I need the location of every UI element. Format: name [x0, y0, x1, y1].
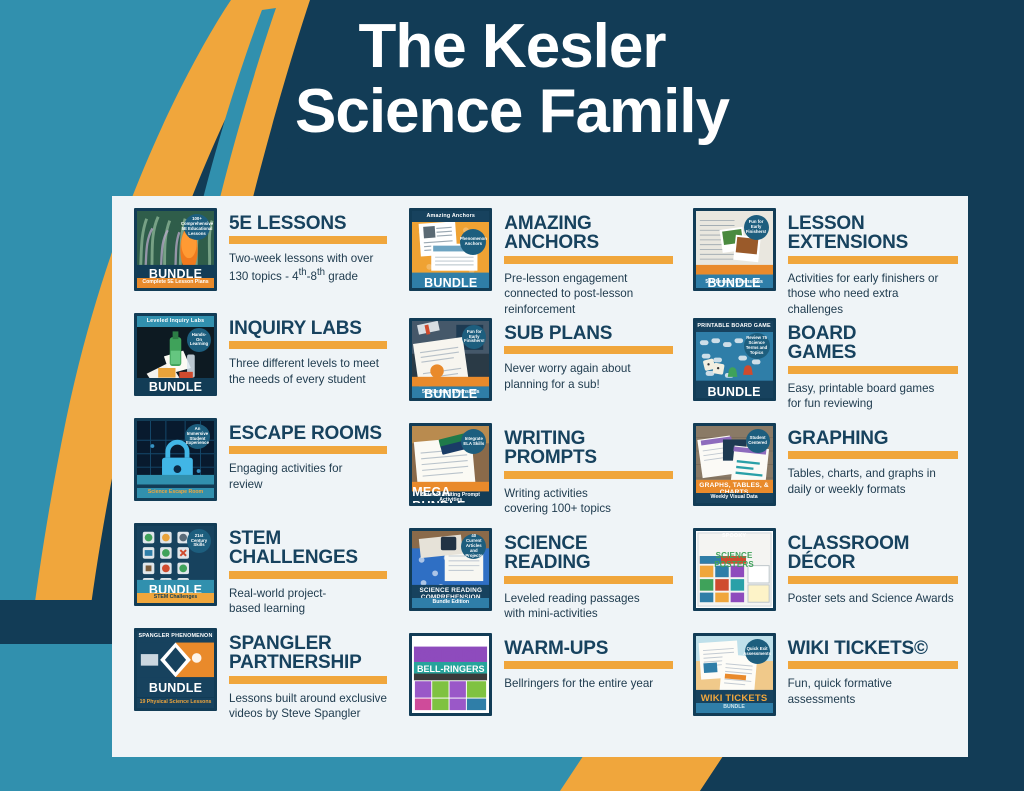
product-thumbnail-lab[interactable]: Leveled Inquiry LabsBUNDLEHands-On Learn… [134, 313, 217, 396]
thumbnail-feature-badge: 40 Current Articles and Projects [461, 534, 486, 559]
product-description: Leveled reading passageswith mini-activi… [504, 591, 672, 622]
product-thumbnail-bellringers[interactable]: MIDDLE & HIGHSCIENCEBELL-RINGERS [409, 633, 492, 716]
product-card-text: WRITING PROMPTSWriting activitiescoverin… [492, 423, 672, 517]
product-card-text: BOARD GAMESEasy, printable board gamesfo… [776, 318, 958, 412]
product-description: Easy, printable board gamesfor fun revie… [788, 381, 958, 412]
product-title: ESCAPE ROOMS [229, 424, 387, 443]
thumbnail-feature-badge: Fun for Early Finishers! [744, 215, 769, 240]
product-card[interactable]: BUNDLEScience Escape RoomAn Immersive St… [134, 418, 387, 523]
title-line-2: Science Family [0, 79, 1024, 144]
thumbnail-top-label: Amazing Anchors [412, 211, 489, 222]
product-card[interactable]: BUNDLESTEM Challenges21st Century Skills… [134, 523, 387, 628]
product-thumbnail-spangler[interactable]: SPANGLER PHENOMENONBUNDLE19 Physical Sci… [134, 628, 217, 711]
product-title: BOARD GAMES [788, 324, 958, 363]
thumbnail-bundle-badge: SCIENCE [412, 647, 489, 663]
thumbnail-sub-label: Weekly Visual Data [696, 493, 773, 503]
product-title: STEM CHALLENGES [229, 529, 387, 568]
product-card[interactable]: SPOOKYSCIENCE POSTERSCLASSROOM DÉCORPost… [693, 528, 958, 633]
product-thumbnail-writing[interactable]: MEGA BUNDLEScience Writing Prompt Activi… [409, 423, 492, 506]
product-card[interactable]: MEGA BUNDLEScience Writing Prompt Activi… [409, 423, 672, 528]
thumbnail-sub-label: 50+ Lesson Extensions [696, 278, 773, 288]
thumbnail-sub-label: STEM Challenges [137, 593, 214, 603]
thumbnail-bundle-badge: SCIENCE POSTERS [696, 557, 773, 565]
product-thumbnail-extensions[interactable]: BUNDLE50+ Lesson ExtensionsFun for Early… [693, 208, 776, 291]
accent-rule [229, 571, 387, 579]
product-card-text: STEM CHALLENGESReal-world project-based … [217, 523, 387, 617]
product-card-text: INQUIRY LABSThree different levels to me… [217, 313, 387, 387]
accent-rule [229, 446, 387, 454]
product-thumbnail-decor[interactable]: SPOOKYSCIENCE POSTERS [693, 528, 776, 611]
accent-rule [504, 471, 672, 479]
product-description: Activities for early finishers orthose w… [788, 271, 958, 317]
thumbnail-top-label: MIDDLE & HIGH [412, 636, 489, 647]
accent-rule [504, 576, 672, 584]
thumbnail-top-label: PRINTABLE BOARD GAME [696, 321, 773, 332]
thumbnail-bundle-badge: BUNDLE [696, 383, 773, 401]
thumbnail-top-label: Leveled Inquiry Labs [137, 316, 214, 327]
product-card[interactable]: GRAPHS, TABLES, & CHARTSWeekly Visual Da… [693, 423, 958, 528]
accent-rule [788, 256, 958, 264]
product-column-3: BUNDLE50+ Lesson ExtensionsFun for Early… [683, 196, 968, 757]
product-card-text: WIKI TICKETS©Fun, quick formativeassessm… [776, 633, 958, 707]
product-card[interactable]: Amazing AnchorsBUNDLEPhenomenon AnchorsA… [409, 208, 672, 318]
product-card-text: CLASSROOM DÉCORPoster sets and Science A… [776, 528, 958, 606]
product-card[interactable]: PRINTABLE BOARD GAMEBUNDLEReview 75 Scie… [693, 318, 958, 423]
product-description: Three different levels to meetthe needs … [229, 356, 387, 387]
accent-rule [504, 256, 672, 264]
product-thumbnail-subplans[interactable]: BUNDLE50+ Lesson ExtensionsFun for Early… [409, 318, 492, 401]
product-title: GRAPHING [788, 429, 958, 448]
product-title: SCIENCE READING [504, 534, 672, 573]
thumbnail-feature-badge: Student Centered [746, 429, 770, 453]
product-thumbnail-wiki[interactable]: WIKI TICKETSBUNDLEQuick Exit Assessments [693, 633, 776, 716]
product-title: INQUIRY LABS [229, 319, 387, 338]
product-description: Writing activitiescovering 100+ topics [504, 486, 672, 517]
poster-canvas: The Kesler Science Family BUNDLEComplete… [0, 0, 1024, 791]
product-card[interactable]: MIDDLE & HIGHSCIENCEBELL-RINGERSWARM-UPS… [409, 633, 672, 738]
thumbnail-feature-badge: 21st Century Skills [187, 529, 211, 553]
thumbnail-feature-badge: 100+ Comprehensive 5E Educational Lesson… [184, 214, 210, 240]
product-card-text: 5E LESSONSTwo-week lessons with over130 … [217, 208, 387, 284]
product-grid-panel: BUNDLEComplete 5E Lesson Plans100+ Compr… [112, 196, 968, 757]
accent-rule [788, 366, 958, 374]
product-title: WARM-UPS [504, 639, 672, 658]
product-title: AMAZING ANCHORS [504, 214, 672, 253]
product-card[interactable]: BUNDLEComplete 5E Lesson Plans100+ Compr… [134, 208, 387, 313]
product-card[interactable]: Leveled Inquiry LabsBUNDLEHands-On Learn… [134, 313, 387, 418]
product-title: SPANGLER PARTNERSHIP [229, 634, 387, 673]
product-card-text: GRAPHINGTables, charts, and graphs indai… [776, 423, 958, 497]
thumbnail-feature-badge: Hands-On Learning [187, 328, 211, 352]
product-card-text: LESSON EXTENSIONSActivities for early fi… [776, 208, 958, 317]
thumbnail-bundle-badge: BUNDLE [137, 378, 214, 396]
product-description: Fun, quick formativeassessments [788, 676, 958, 707]
product-thumbnail-anemone[interactable]: BUNDLEComplete 5E Lesson Plans100+ Compr… [134, 208, 217, 291]
thumbnail-feature-badge: An Immersive Student Experience [185, 424, 210, 449]
accent-rule [788, 576, 958, 584]
product-column-1: BUNDLEComplete 5E Lesson Plans100+ Compr… [112, 196, 397, 757]
product-card-text: SCIENCE READINGLeveled reading passagesw… [492, 528, 672, 622]
accent-rule [229, 236, 387, 244]
thumbnail-sub-label: Science Writing Prompt Activities [412, 493, 489, 503]
product-description: Tables, charts, and graphs indaily or we… [788, 466, 958, 497]
thumbnail-sub-label: Complete 5E Lesson Plans [137, 278, 214, 288]
product-title: WRITING PROMPTS [504, 429, 672, 468]
product-card[interactable]: BUNDLE50+ Lesson ExtensionsFun for Early… [409, 318, 672, 423]
thumbnail-sub-label: 19 Physical Science Lessons [137, 698, 214, 708]
product-thumbnail-stem[interactable]: BUNDLESTEM Challenges21st Century Skills [134, 523, 217, 606]
product-title: CLASSROOM DÉCOR [788, 534, 958, 573]
product-card[interactable]: BUNDLE50+ Lesson ExtensionsFun for Early… [693, 208, 958, 318]
product-card[interactable]: SPANGLER PHENOMENONBUNDLE19 Physical Sci… [134, 628, 387, 733]
product-column-2: Amazing AnchorsBUNDLEPhenomenon AnchorsA… [397, 196, 682, 757]
thumbnail-feature-badge: Quick Exit Assessments [745, 639, 770, 664]
product-description: Engaging activities forreview [229, 461, 387, 492]
thumbnail-bundle-badge: BUNDLE [412, 275, 489, 291]
product-description: Poster sets and Science Awards [788, 591, 958, 606]
product-thumbnail-lock[interactable]: BUNDLEScience Escape RoomAn Immersive St… [134, 418, 217, 501]
product-thumbnail-reading[interactable]: SCIENCE READING COMPREHENSIONBundle Edit… [409, 528, 492, 611]
product-title: WIKI TICKETS© [788, 639, 958, 658]
thumbnail-sub-label: BELL-RINGERS [412, 663, 489, 675]
thumbnail-bundle-badge: BUNDLE [137, 679, 214, 697]
product-thumbnail-board[interactable]: PRINTABLE BOARD GAMEBUNDLEReview 75 Scie… [693, 318, 776, 401]
product-card-text: ESCAPE ROOMSEngaging activities forrevie… [217, 418, 387, 492]
product-title: 5E LESSONS [229, 214, 387, 233]
product-title: SUB PLANS [504, 324, 672, 343]
accent-rule [504, 661, 672, 669]
product-card-text: WARM-UPSBellringers for the entire year [492, 633, 672, 692]
accent-rule [229, 676, 387, 684]
product-description: Two-week lessons with over130 topics - 4… [229, 251, 387, 284]
product-description: Lessons built around exclusivevideos by … [229, 691, 387, 722]
product-card-text: AMAZING ANCHORSPre-lesson engagementconn… [492, 208, 672, 317]
accent-rule [788, 451, 958, 459]
product-description: Real-world project-based learning [229, 586, 387, 617]
product-description: Bellringers for the entire year [504, 676, 672, 691]
product-card-text: SPANGLER PARTNERSHIPLessons built around… [217, 628, 387, 722]
accent-rule [788, 661, 958, 669]
product-thumbnail-anchors[interactable]: Amazing AnchorsBUNDLEPhenomenon Anchors [409, 208, 492, 291]
thumbnail-feature-badge: Review 75 Science Terms and Topics [744, 333, 770, 359]
product-card[interactable]: SCIENCE READING COMPREHENSIONBundle Edit… [409, 528, 672, 633]
thumbnail-sub-label: BUNDLE [696, 703, 773, 713]
product-card-text: SUB PLANSNever worry again aboutplanning… [492, 318, 672, 392]
thumbnail-sub-label: Science Escape Room [137, 488, 214, 498]
product-thumbnail-graphing[interactable]: GRAPHS, TABLES, & CHARTSWeekly Visual Da… [693, 423, 776, 506]
product-title: LESSON EXTENSIONS [788, 214, 958, 253]
thumbnail-sub-label: 50+ Lesson Extensions [412, 388, 489, 398]
title-line-1: The Kesler [358, 12, 665, 81]
product-description: Never worry again aboutplanning for a su… [504, 361, 672, 392]
page-title: The Kesler Science Family [0, 14, 1024, 144]
thumbnail-top-label: SPANGLER PHENOMENON [137, 631, 214, 642]
thumbnail-top-label: SPOOKY [696, 531, 773, 542]
product-description: Pre-lesson engagementconnected to post-l… [504, 271, 672, 317]
thumbnail-sub-label: Bundle Edition [412, 598, 489, 608]
product-card[interactable]: WIKI TICKETSBUNDLEQuick Exit Assessments… [693, 633, 958, 738]
accent-rule [504, 346, 672, 354]
accent-rule [229, 341, 387, 349]
